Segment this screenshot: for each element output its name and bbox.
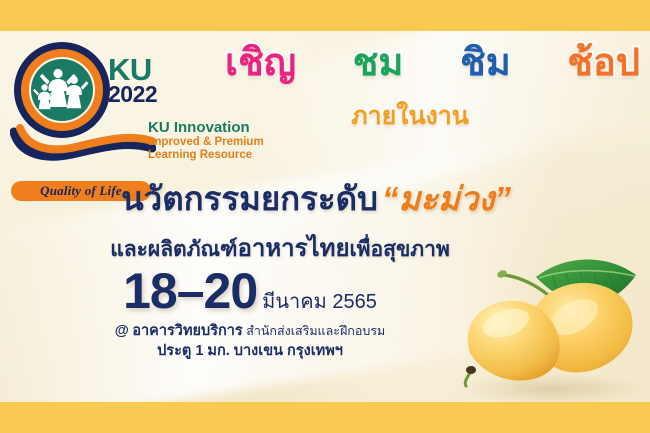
ku-innovation-subtitle-1: Improved & Premium (148, 136, 264, 148)
ku-year: 2022 (108, 83, 157, 106)
invite-word-chop: ช้อป (567, 44, 640, 82)
invite-subtitle: ภายในงาน (351, 102, 469, 130)
ku-logo-block: KU 2022 Quality of Life (8, 38, 158, 168)
subheadline-part-2: อาหารไทย (237, 235, 349, 262)
subheadline-part-3: เพื่อสุขภาพ (350, 238, 450, 261)
venue-at-symbol: @ (115, 323, 129, 339)
ku-innovation-subtitle-2: Learning Resource (148, 149, 264, 161)
mango-shadow (460, 373, 644, 405)
invite-word-chim: ชิม (460, 44, 511, 82)
logo-swoosh-icon (10, 124, 156, 164)
headline-row: นวัตกรรมยกระดับ“มะม่วง” (0, 172, 650, 225)
venue-line-1: @ อาคารวิทยบริการ สำนักส่งเสริมและฝึกอบร… (0, 322, 500, 342)
venue-office: สำนักส่งเสริมและฝึกอบรม (246, 324, 385, 338)
top-gold-bar (0, 0, 650, 31)
event-poster: KU 2022 Quality of Life KU Innovation Im… (0, 0, 650, 433)
mango-stem-tip (496, 269, 508, 279)
invite-subtitle-row: ภายในงาน (0, 104, 650, 129)
venue-building: อาคารวิทยบริการ (132, 323, 242, 339)
ku-wordmark: KU 2022 (108, 54, 157, 106)
date-month-year: มีนาคม 2565 (262, 291, 377, 313)
headline-highlight: “มะม่วง” (382, 180, 511, 217)
invite-word-chom: ชม (353, 44, 404, 82)
mango-illustration (440, 237, 648, 407)
invite-word-row: เชิญ ชม ชิม ช้อป (225, 44, 640, 82)
venue-line-2: ประตู 1 มก. บางเขน กรุงเทพฯ (0, 342, 500, 362)
headline-main: นวัตกรรมยกระดับ (121, 180, 378, 217)
subheadline-part-1: และผลิตภัณฑ์ (110, 238, 237, 261)
invite-word-chern: เชิญ (225, 44, 296, 82)
mango-front-stem-base (466, 366, 476, 374)
date-range: 18–20 (123, 263, 257, 319)
